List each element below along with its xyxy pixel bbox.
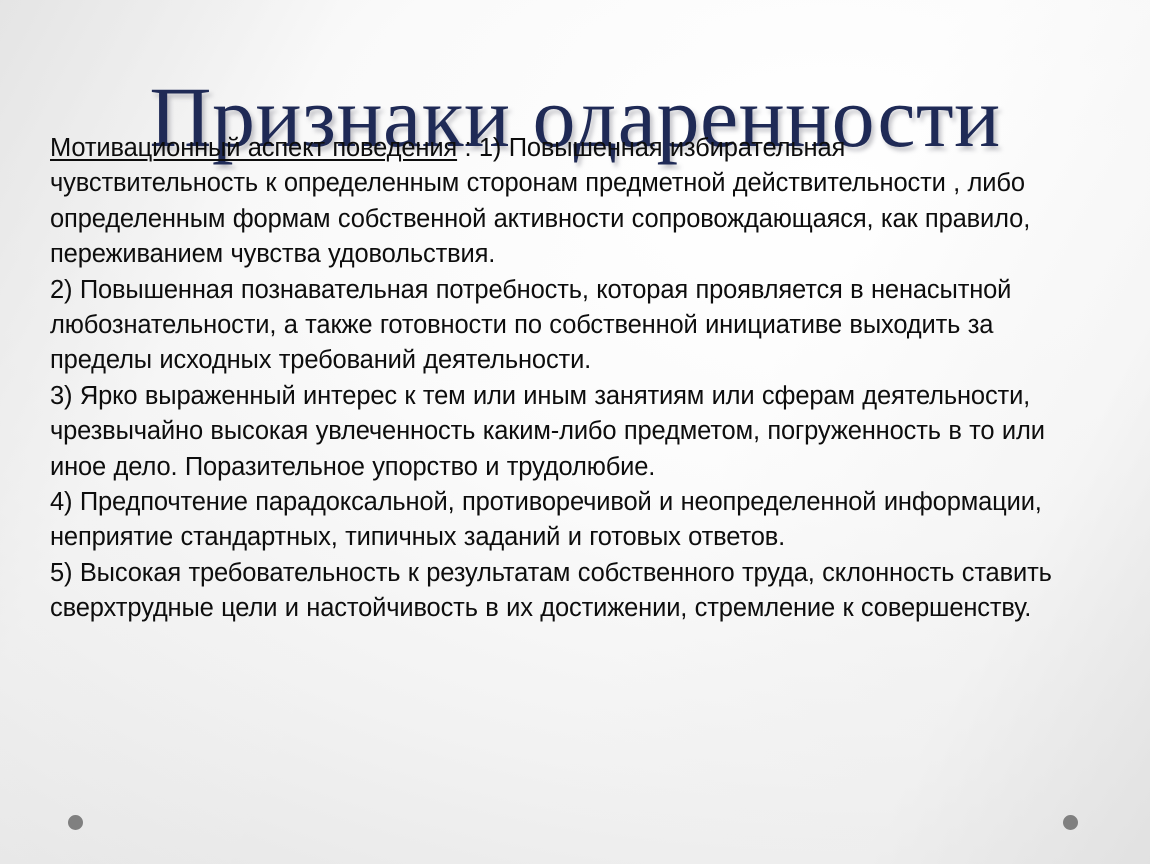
item-text-5: Высокая требовательность к результатам с…	[50, 559, 1052, 622]
paragraph-item-4: 4) Предпочтение парадоксальной, противор…	[50, 485, 1060, 556]
lead-label: Мотивационный аспект поведения	[50, 134, 457, 162]
slide-content-area: Признаки одаренности Мотивационный аспек…	[0, 0, 1150, 864]
paragraph-item-2: 2) Повышенная познавательная потребность…	[50, 273, 1060, 379]
paragraph-item-5: 5) Высокая требовательность к результата…	[50, 556, 1060, 627]
paragraph-item-3: 3) Ярко выраженный интерес к тем или ины…	[50, 379, 1060, 485]
paragraph-item-1: Мотивационный аспект поведения : 1) Повы…	[50, 131, 1060, 273]
slide-canvas: Признаки одаренности Мотивационный аспек…	[0, 0, 1150, 864]
item-number-3: 3)	[50, 382, 72, 410]
item-text-2: Повышенная познавательная потребность, к…	[50, 276, 1011, 375]
footer-dot-left-icon	[68, 815, 83, 830]
item-number-4: 4)	[50, 488, 72, 516]
item-number-5: 5)	[50, 559, 72, 587]
footer-dot-right-icon	[1063, 815, 1078, 830]
item-number-1: 1)	[479, 134, 501, 162]
lead-separator: :	[457, 134, 479, 162]
slide-body-text: Мотивационный аспект поведения : 1) Повы…	[50, 131, 1060, 627]
item-text-3: Ярко выраженный интерес к тем или иным з…	[50, 382, 1045, 481]
item-number-2: 2)	[50, 276, 72, 304]
item-text-4: Предпочтение парадоксальной, противоречи…	[50, 488, 1042, 551]
